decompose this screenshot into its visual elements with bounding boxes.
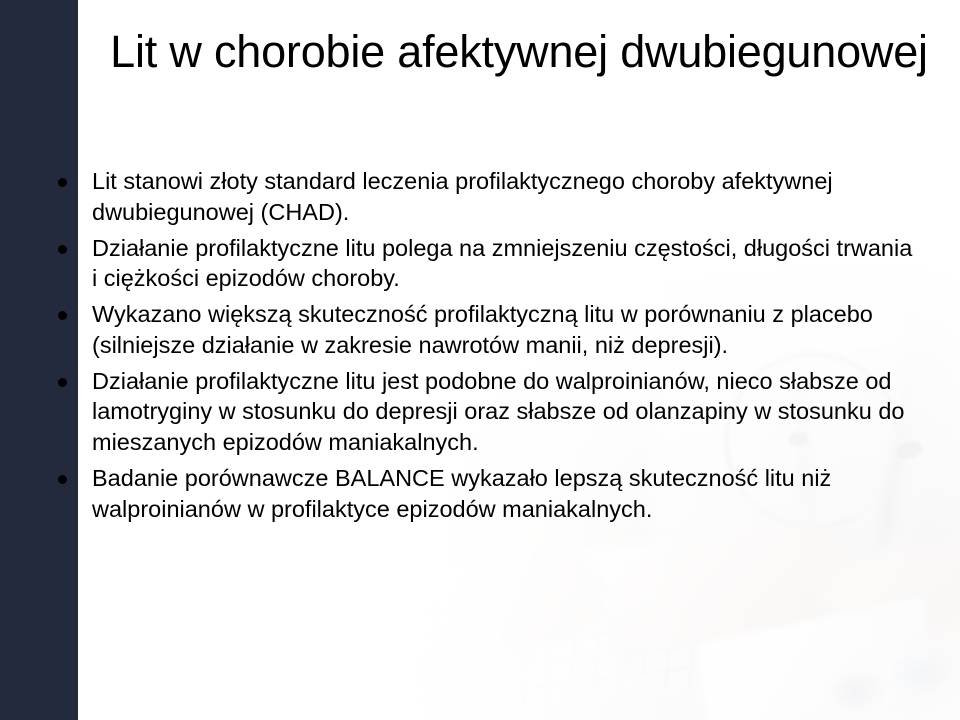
list-item: Lit stanowi złoty standard leczenia prof…	[0, 166, 960, 228]
bullet-point-icon	[58, 475, 67, 484]
bullet-text: Badanie porównawcze BALANCE wykazało lep…	[0, 463, 960, 525]
rx-symbol	[822, 662, 890, 719]
presentation-slide: Lit w chorobie afektywnej dwubiegunowej …	[0, 0, 960, 720]
finger-right	[602, 600, 645, 671]
bullet-point-icon	[58, 245, 67, 254]
hand-left	[443, 536, 611, 663]
bullet-text: Działanie profilaktyczne litu polega na …	[0, 233, 960, 295]
laptop-keyboard	[357, 566, 703, 720]
bullet-text: Działanie profilaktyczne litu jest podob…	[0, 366, 960, 458]
blue-object	[894, 654, 952, 694]
prescription-pad	[712, 616, 874, 720]
list-item: Badanie porównawcze BALANCE wykazało lep…	[0, 463, 960, 525]
finger-left	[495, 603, 542, 665]
list-item: Wykazano większą skuteczność profilaktyc…	[0, 299, 960, 361]
bullet-text: Lit stanowi złoty standard leczenia prof…	[0, 166, 960, 228]
slide-title: Lit w chorobie afektywnej dwubiegunowej	[78, 22, 960, 82]
bullet-text: Wykazano większą skuteczność profilaktyc…	[0, 299, 960, 361]
bullet-point-icon	[58, 378, 67, 387]
bullet-list: Lit stanowi złoty standard leczenia prof…	[0, 166, 960, 530]
list-item: Działanie profilaktyczne litu jest podob…	[0, 366, 960, 458]
laptop	[316, 527, 789, 720]
laptop-trackpad	[334, 644, 429, 702]
paper-sheet	[699, 596, 936, 720]
hand-right	[602, 513, 867, 669]
list-item: Działanie profilaktyczne litu polega na …	[0, 233, 960, 295]
bullet-point-icon	[58, 178, 67, 187]
forearm	[815, 535, 960, 644]
